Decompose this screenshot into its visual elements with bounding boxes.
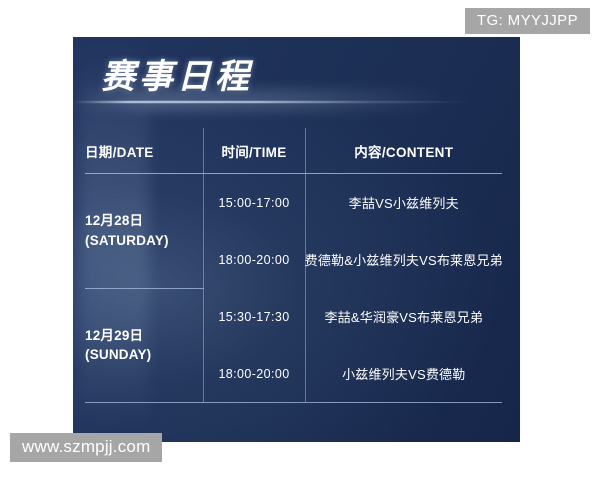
schedule-table: 日期/DATE 时间/TIME 内容/CONTENT 12月28日 (SATUR…	[85, 128, 502, 403]
date-main: 12月29日	[85, 326, 203, 346]
content-slot: 费德勒&小兹维列夫VS布莱恩兄弟	[306, 231, 503, 288]
content-slot: 小兹维列夫VS费德勒	[306, 345, 503, 402]
table-row: 12月29日 (SUNDAY) 15:30-17:30 18:00-20:00 …	[85, 288, 502, 403]
time-cell: 15:00-17:00 18:00-20:00	[203, 174, 305, 289]
table-body: 12月28日 (SATURDAY) 15:00-17:00 18:00-20:0…	[85, 174, 502, 403]
table-row: 12月28日 (SATURDAY) 15:00-17:00 18:00-20:0…	[85, 174, 502, 289]
page-title: 赛事日程	[101, 55, 253, 101]
content-cell: 李喆&华润豪VS布莱恩兄弟 小兹维列夫VS费德勒	[305, 288, 502, 403]
time-slot: 15:00-17:00	[204, 174, 305, 231]
schedule-card: 赛事日程 日期/DATE 时间/TIME 内容/CONTENT 12月28日 (…	[73, 37, 520, 442]
time-slot: 18:00-20:00	[204, 345, 305, 402]
content-slot: 李喆&华润豪VS布莱恩兄弟	[306, 288, 503, 345]
content-cell: 李喆VS小兹维列夫 费德勒&小兹维列夫VS布莱恩兄弟	[305, 174, 502, 289]
title-streak-line	[73, 101, 473, 103]
table-header-row: 日期/DATE 时间/TIME 内容/CONTENT	[85, 128, 502, 174]
date-cell: 12月28日 (SATURDAY)	[85, 174, 203, 289]
date-weekday: (SUNDAY)	[85, 345, 203, 365]
date-main: 12月28日	[85, 211, 203, 231]
time-cell: 15:30-17:30 18:00-20:00	[203, 288, 305, 403]
content-slot: 李喆VS小兹维列夫	[306, 174, 503, 231]
table-header: 日期/DATE 时间/TIME 内容/CONTENT	[85, 128, 502, 174]
telegram-watermark: TG: MYYJJPP	[465, 8, 590, 34]
time-slot: 18:00-20:00	[204, 231, 305, 288]
header-time: 时间/TIME	[203, 128, 305, 174]
date-weekday: (SATURDAY)	[85, 231, 203, 251]
header-content: 内容/CONTENT	[305, 128, 502, 174]
date-cell: 12月29日 (SUNDAY)	[85, 288, 203, 403]
title-area: 赛事日程	[73, 55, 520, 127]
header-date: 日期/DATE	[85, 128, 203, 174]
website-watermark: www.szmpjj.com	[10, 433, 162, 462]
time-slot: 15:30-17:30	[204, 288, 305, 345]
